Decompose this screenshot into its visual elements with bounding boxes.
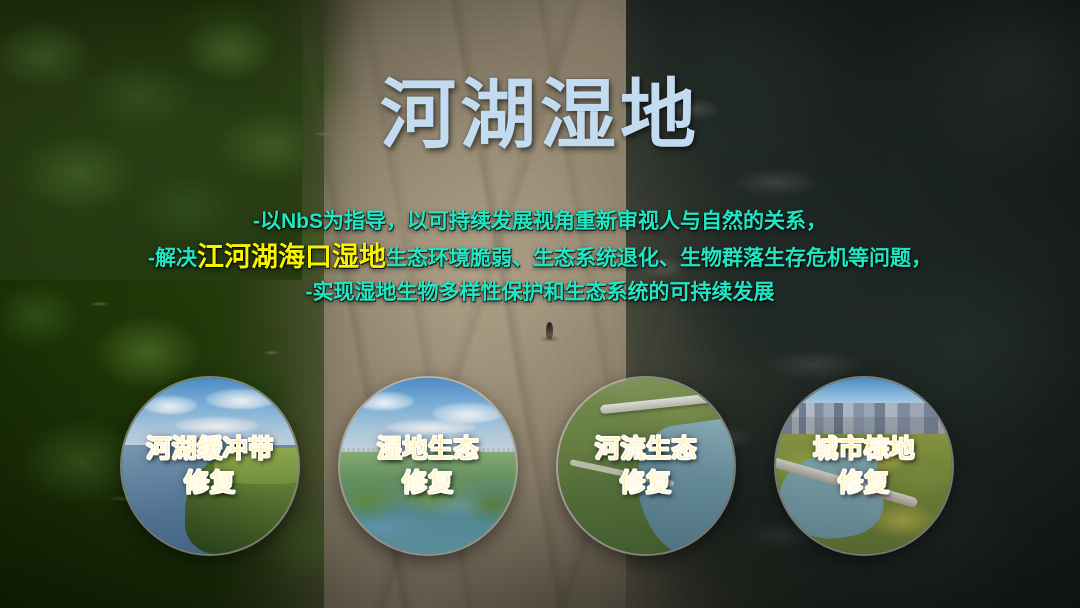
circle-label-line1: 河流生态 xyxy=(558,434,734,465)
circle-card-group: 河湖缓冲带 修复 湿地生态 修复 xyxy=(0,378,1080,560)
subtitle-block: -以NbS为指导，以可持续发展视角重新审视人与自然的关系， -解决江河湖海口湿地… xyxy=(0,208,1080,307)
subtitle-line-3-text: -实现湿地生物多样性保护和生态系统的可持续发展 xyxy=(306,281,775,304)
circle-label: 湿地生态 修复 xyxy=(340,434,516,498)
page-title: 河湖湿地 xyxy=(0,78,1080,154)
circle-label-line2: 修复 xyxy=(122,468,298,499)
circle-label-line2: 修复 xyxy=(340,468,516,499)
circle-label-line2: 修复 xyxy=(776,468,952,499)
subtitle-line-2-suffix: 生态环境脆弱、生态系统退化、生物群落生存危机等问题， xyxy=(386,247,932,270)
circle-label: 河湖缓冲带 修复 xyxy=(122,434,298,498)
circle-card-wetland-ecology[interactable]: 湿地生态 修复 xyxy=(340,378,516,554)
subtitle-line-2: -解决江河湖海口湿地生态环境脆弱、生态系统退化、生物群落生存危机等问题， xyxy=(0,240,1080,276)
subtitle-line-1-text: -以NbS为指导，以可持续发展视角重新审视人与自然的关系， xyxy=(253,210,827,233)
subtitle-line-2-prefix: -解决 xyxy=(148,247,197,270)
circle-label: 河流生态 修复 xyxy=(558,434,734,498)
presentation-slide: 河湖湿地 -以NbS为指导，以可持续发展视角重新审视人与自然的关系， -解决江河… xyxy=(0,0,1080,608)
circle-label-line1: 河湖缓冲带 xyxy=(122,434,298,465)
circle-label-line2: 修复 xyxy=(558,468,734,499)
circle-card-urban-brownfield[interactable]: 城市棕地 修复 xyxy=(776,378,952,554)
subtitle-line-2-highlight: 江河湖海口湿地 xyxy=(197,242,386,272)
circle-label-line1: 城市棕地 xyxy=(776,434,952,465)
subtitle-line-1: -以NbS为指导，以可持续发展视角重新审视人与自然的关系， xyxy=(0,208,1080,236)
circle-label-line1: 湿地生态 xyxy=(340,434,516,465)
circle-card-river-ecology[interactable]: 河流生态 修复 xyxy=(558,378,734,554)
circle-card-river-lake-buffer[interactable]: 河湖缓冲带 修复 xyxy=(122,378,298,554)
subtitle-line-3: -实现湿地生物多样性保护和生态系统的可持续发展 xyxy=(0,279,1080,307)
circle-label: 城市棕地 修复 xyxy=(776,434,952,498)
